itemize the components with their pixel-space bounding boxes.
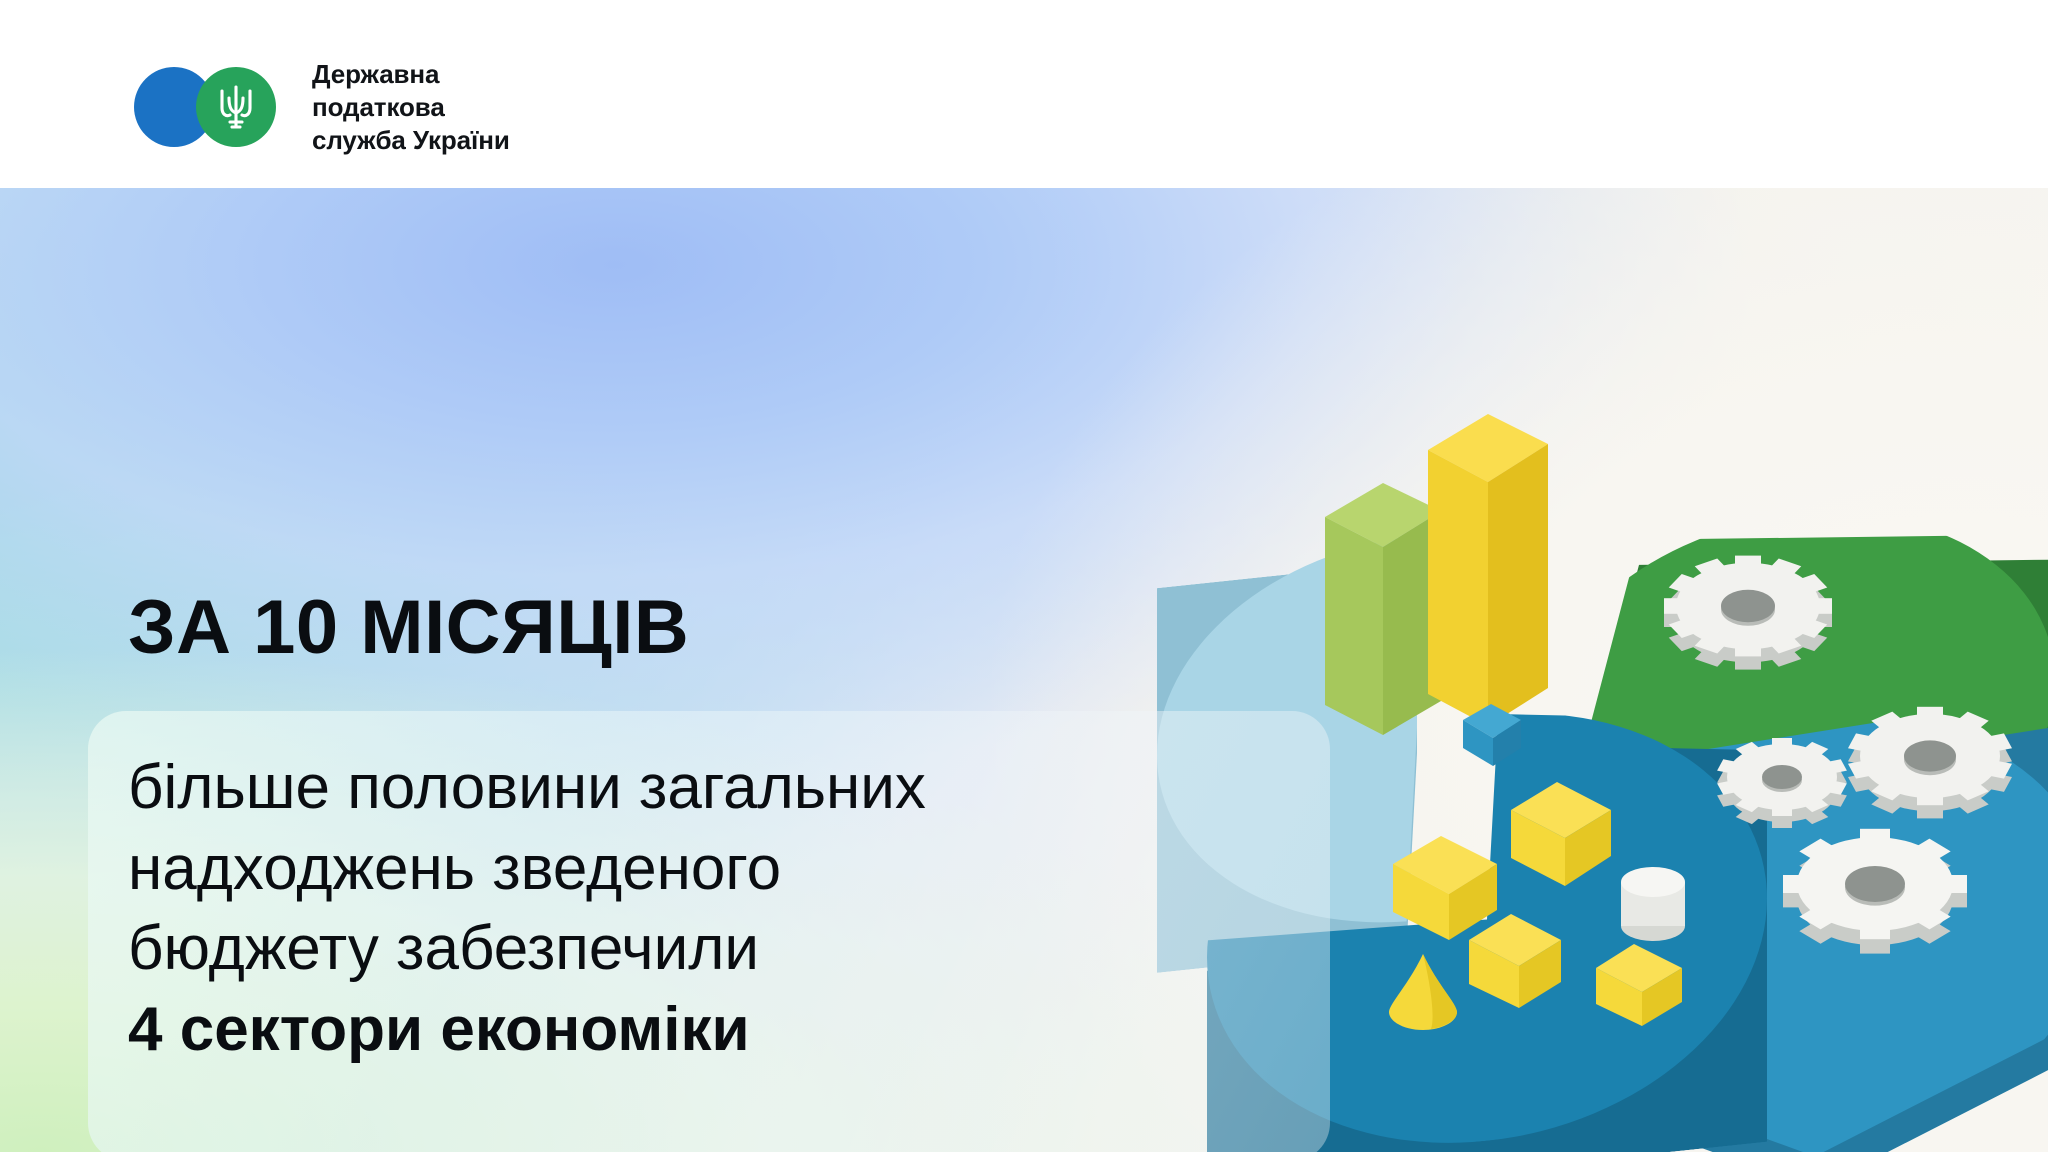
page-body-text: більше половини загальних надходжень зве… bbox=[128, 748, 1308, 1070]
poster-stage: ЗА 10 МІСЯЦІВ більше половини загальних … bbox=[0, 188, 2048, 1152]
yellow-cone-shape bbox=[1377, 948, 1469, 1039]
body-line: 4 сектори економіки bbox=[128, 990, 1308, 1071]
body-line: бюджету забезпечили bbox=[128, 909, 1308, 990]
white-cylinder-shape bbox=[1610, 856, 1696, 965]
page-headline: ЗА 10 МІСЯЦІВ bbox=[128, 590, 689, 666]
blue-cube-block bbox=[1457, 698, 1533, 779]
logo-circle-green-icon bbox=[196, 67, 276, 147]
header-bar: Державна податкова служба України bbox=[0, 0, 2048, 188]
logo-marks bbox=[134, 66, 294, 148]
white-gear-icon bbox=[1770, 808, 1980, 973]
poster-canvas: Державна податкова служба України bbox=[0, 0, 2048, 1152]
trident-icon bbox=[216, 81, 256, 133]
yellow-cube-block bbox=[1463, 908, 1571, 1021]
white-gear-icon bbox=[1650, 536, 1846, 691]
body-line: більше половини загальних bbox=[128, 748, 1308, 829]
logo-text: Державна податкова служба України bbox=[312, 58, 510, 156]
yellow-cube-block bbox=[1505, 776, 1623, 899]
organization-logo: Державна податкова служба України bbox=[134, 58, 510, 156]
body-line: надходжень зведеного bbox=[128, 829, 1308, 910]
